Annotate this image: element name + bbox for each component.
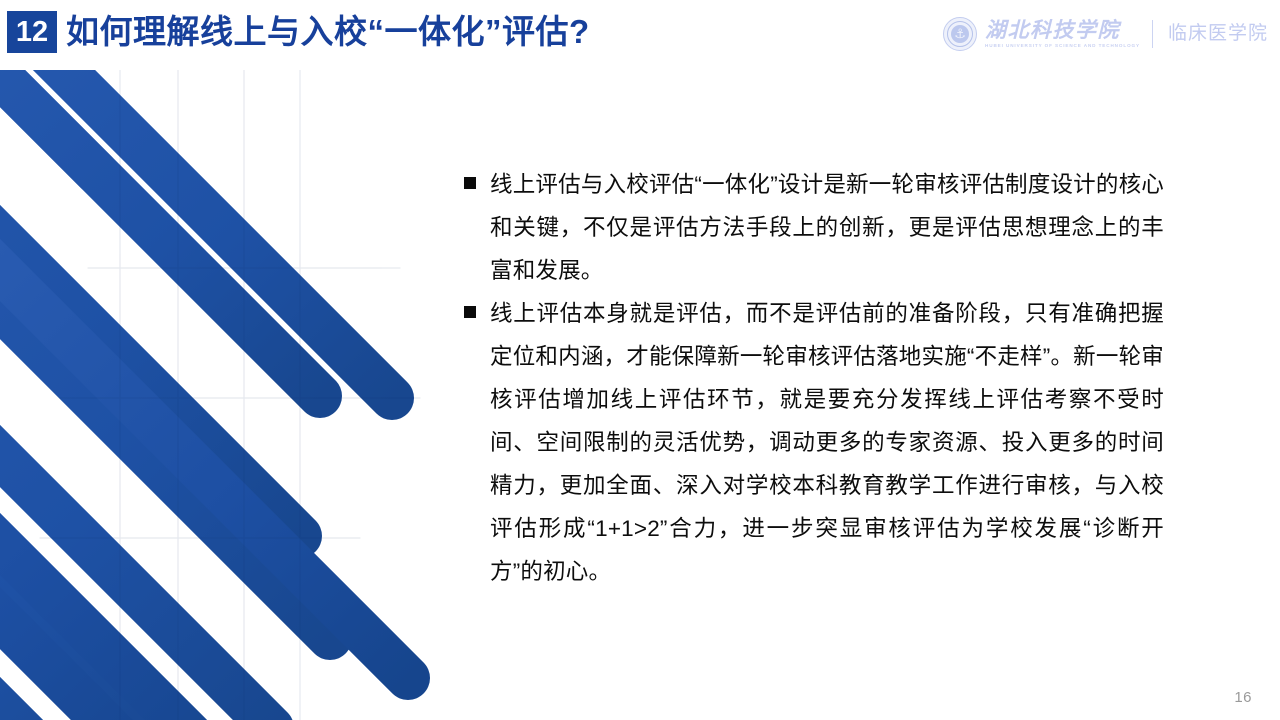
diagonal-stripe-graphic (0, 68, 470, 720)
slide-number-badge: 12 (7, 11, 57, 53)
slide-root: 12 如何理解线上与入校“一体化”评估? ⚓ 湖北科技学院 HUBEI UNIV… (0, 0, 1280, 720)
university-emblem-icon: ⚓ (943, 17, 977, 51)
page-title: 如何理解线上与入校“一体化”评估? (66, 9, 590, 55)
body-content: 线上评估与入校评估“一体化”设计是新一轮审核评估制度设计的核心和关键，不仅是评估… (458, 163, 1164, 593)
stripe-svg (0, 68, 470, 720)
logo-wordmark: 湖北科技学院 HUBEI UNIVERSITY OF SCIENCE AND T… (985, 16, 1140, 52)
logo-sub-name: 临床医学院 (1168, 22, 1268, 46)
university-logo: ⚓ 湖北科技学院 HUBEI UNIVERSITY OF SCIENCE AND… (943, 12, 1268, 56)
list-item: 线上评估与入校评估“一体化”设计是新一轮审核评估制度设计的核心和关键，不仅是评估… (458, 163, 1164, 292)
logo-divider (1152, 20, 1153, 48)
emblem-glyph-icon: ⚓ (951, 25, 969, 43)
bullet-text: 线上评估与入校评估“一体化”设计是新一轮审核评估制度设计的核心和关键，不仅是评估… (490, 163, 1164, 292)
page-number: 16 (1234, 689, 1252, 706)
bullet-text: 线上评估本身就是评估，而不是评估前的准备阶段，只有准确把握定位和内涵，才能保障新… (490, 292, 1164, 593)
bullet-square-icon (458, 292, 490, 335)
logo-name-cn: 湖北科技学院 (985, 18, 1140, 42)
slide-header: 12 如何理解线上与入校“一体化”评估? ⚓ 湖北科技学院 HUBEI UNIV… (0, 0, 1280, 70)
list-item: 线上评估本身就是评估，而不是评估前的准备阶段，只有准确把握定位和内涵，才能保障新… (458, 292, 1164, 593)
logo-name-en: HUBEI UNIVERSITY OF SCIENCE AND TECHNOLO… (985, 42, 1140, 50)
bullet-square-icon (458, 163, 490, 206)
